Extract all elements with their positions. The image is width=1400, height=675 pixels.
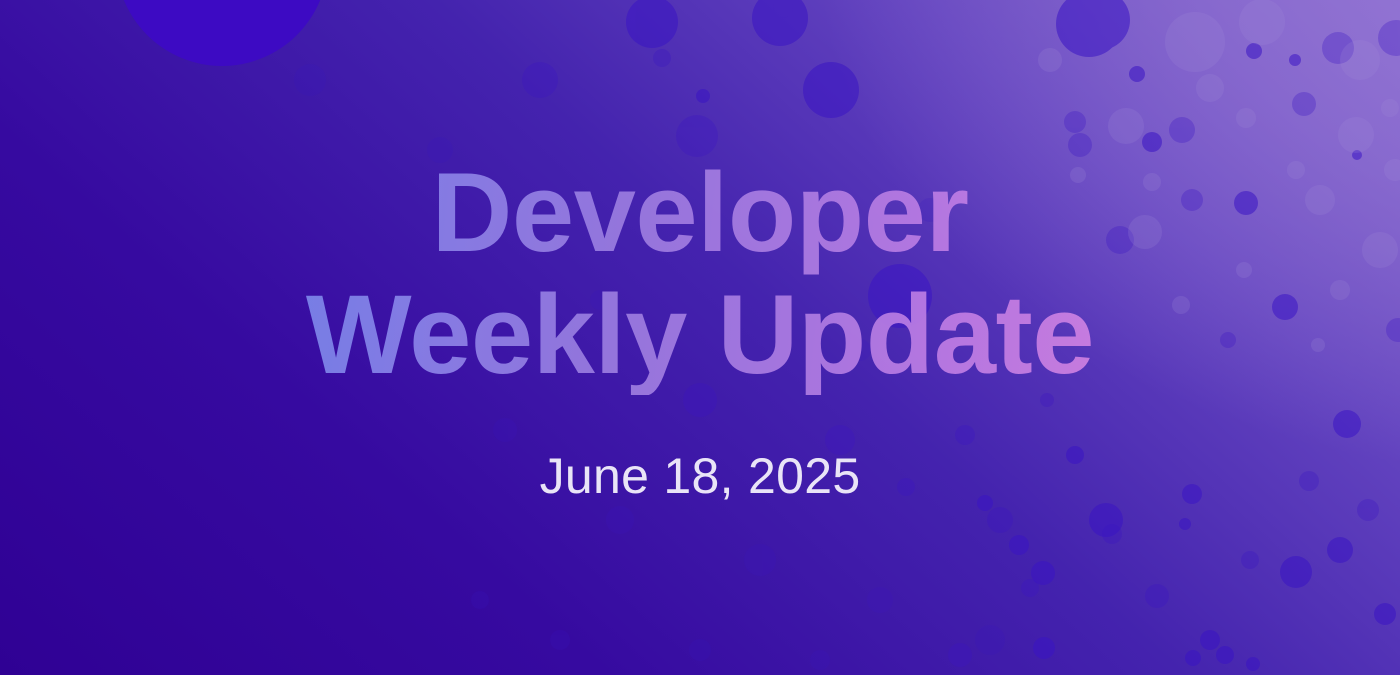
slide-date: June 18, 2025 bbox=[540, 447, 861, 505]
page-title: Developer Weekly Update bbox=[306, 152, 1094, 395]
title-line-2: Weekly Update bbox=[306, 274, 1094, 396]
slide-content: Developer Weekly Update June 18, 2025 bbox=[0, 0, 1400, 675]
title-line-1: Developer bbox=[306, 152, 1094, 274]
title-slide: Developer Weekly Update June 18, 2025 bbox=[0, 0, 1400, 675]
